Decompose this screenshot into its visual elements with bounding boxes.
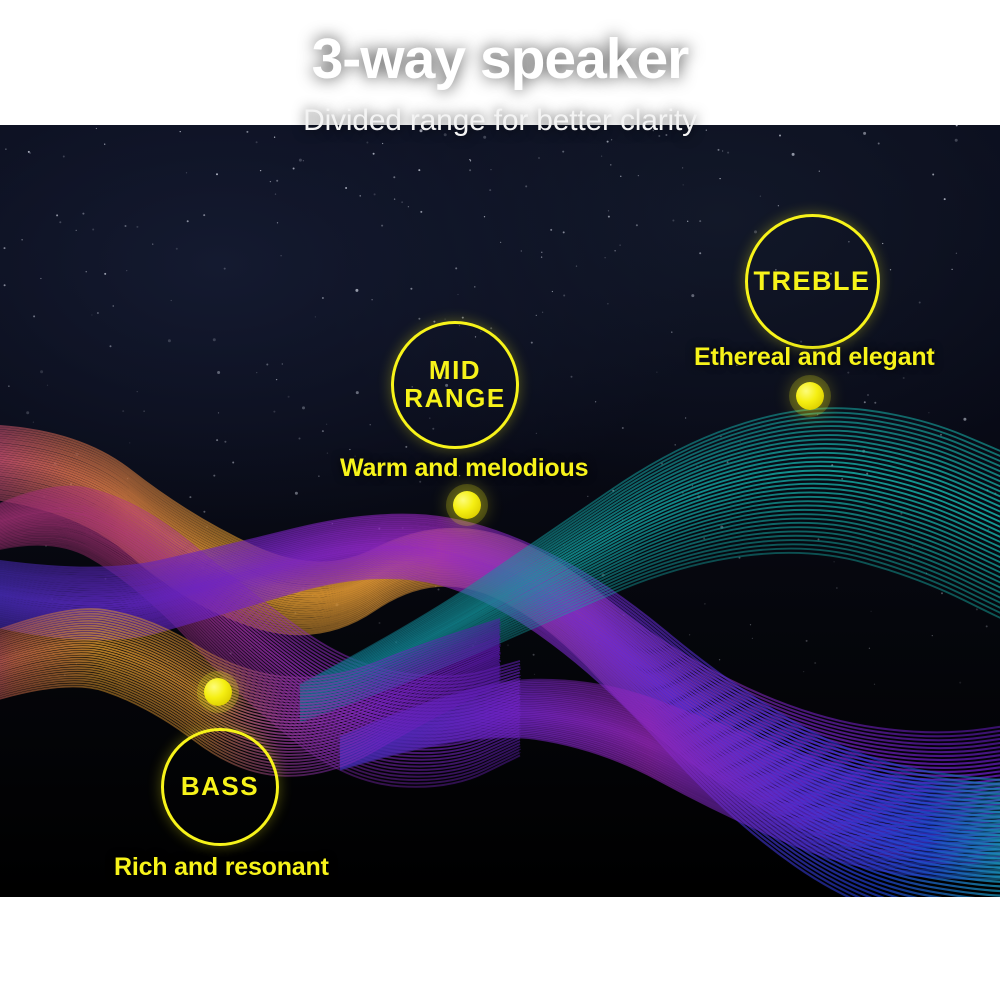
badge-line: BASS bbox=[181, 771, 259, 801]
product-banner: 3-way speaker Divided range for better c… bbox=[0, 0, 1000, 1000]
badge-line: TREBLE bbox=[754, 266, 871, 296]
range-caption-bass: Rich and resonant bbox=[114, 853, 329, 882]
range-caption-treble: Ethereal and elegant bbox=[694, 343, 935, 372]
badge-line: MID bbox=[429, 355, 481, 385]
page-subtitle: Divided range for better clarity bbox=[0, 104, 1000, 138]
page-title: 3-way speaker bbox=[0, 30, 1000, 90]
range-badge-treble[interactable]: TREBLE bbox=[745, 214, 880, 349]
badge-line: RANGE bbox=[404, 383, 505, 413]
range-caption-mid-range: Warm and melodious bbox=[340, 454, 588, 483]
range-marker-dot-treble[interactable] bbox=[796, 382, 824, 410]
range-badge-bass[interactable]: BASS bbox=[161, 728, 279, 846]
range-badge-mid-range[interactable]: MIDRANGE bbox=[391, 321, 519, 449]
range-marker-dot-bass[interactable] bbox=[204, 678, 232, 706]
range-marker-dot-mid-range[interactable] bbox=[453, 491, 481, 519]
